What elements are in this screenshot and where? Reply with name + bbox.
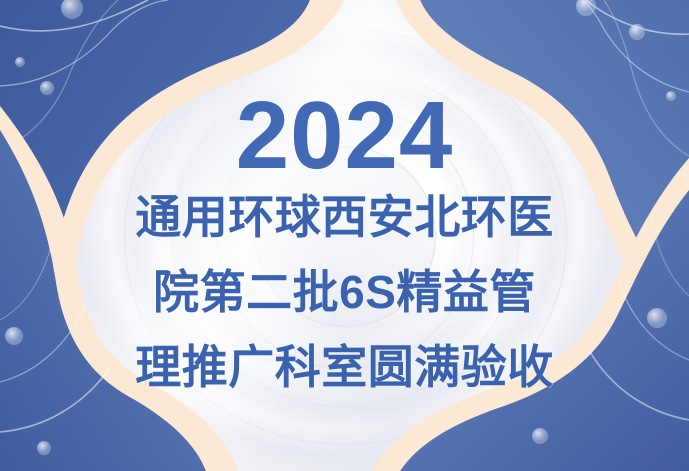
- headline-line-3: 理推广科室圆满验收: [135, 330, 554, 405]
- headline-line-2: 院第二批6S精益管: [135, 255, 554, 330]
- headline-text: 通用环球西安北环医 院第二批6S精益管 理推广科室圆满验收: [135, 180, 554, 405]
- poster-text-block: 2024 通用环球西安北环医 院第二批6S精益管 理推广科室圆满验收: [0, 0, 689, 471]
- poster-canvas: 2024 通用环球西安北环医 院第二批6S精益管 理推广科室圆满验收: [0, 0, 689, 471]
- year-title: 2024: [236, 92, 454, 180]
- headline-line-1: 通用环球西安北环医: [135, 180, 554, 255]
